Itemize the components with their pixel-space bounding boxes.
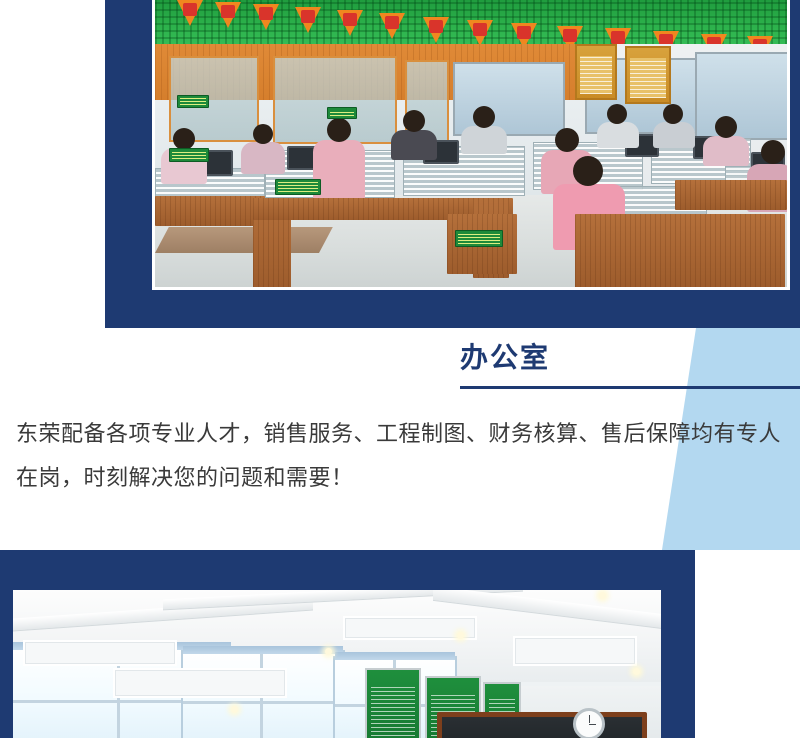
ceiling-banner [215, 2, 241, 28]
section-title-wrap: 办公室 [460, 340, 800, 375]
whiteboard [437, 712, 647, 738]
staff-head [473, 106, 495, 128]
wooden-desk [575, 214, 785, 287]
department-sign [455, 230, 503, 247]
promo-page: 办公室 东荣配备各项专业人才，销售服务、工程制图、财务核算、售后保障均有专人在岗… [0, 0, 800, 738]
ceiling-downlight [599, 592, 606, 599]
department-sign [169, 148, 209, 162]
notice-board [365, 668, 421, 738]
wooden-desk [155, 196, 265, 226]
staff-body [653, 122, 695, 148]
ceiling-banner [379, 13, 405, 39]
staff-body [703, 136, 749, 166]
staff-head [253, 124, 273, 144]
body-paragraph: 东荣配备各项专业人才，销售服务、工程制图、财务核算、售后保障均有专人在岗，时刻解… [16, 412, 800, 500]
department-sign [327, 107, 357, 119]
wall-clock [573, 708, 605, 738]
ceiling-banner [467, 20, 493, 46]
ceiling-recess [113, 668, 287, 698]
page-title: 办公室 [460, 340, 800, 375]
staff-body [461, 126, 507, 154]
ceiling-downlight [231, 706, 238, 713]
staff-head [173, 128, 195, 150]
wall-poster [625, 46, 671, 104]
title-underline-rule [460, 386, 800, 389]
staff-body [391, 130, 437, 160]
ceiling-recess [23, 640, 177, 666]
staff-head [555, 128, 579, 152]
staff-head [573, 156, 603, 186]
wall-poster-content [630, 58, 666, 98]
ceiling-downlight [457, 632, 464, 639]
window-pane [453, 62, 565, 136]
staff-head [663, 104, 683, 124]
staff-head [761, 140, 785, 164]
staff-head [607, 104, 627, 124]
staff-head [715, 116, 737, 138]
staff-head [327, 118, 351, 142]
department-sign [275, 179, 321, 195]
wall-poster-content [580, 56, 612, 94]
ceiling-banner [177, 0, 203, 26]
ceiling-banner [423, 17, 449, 43]
ceiling-banner [253, 4, 279, 30]
window-blind [335, 652, 455, 660]
floor-border-band [155, 227, 333, 253]
window-mullion-h [183, 701, 343, 704]
wooden-desk [675, 180, 787, 210]
staff-body [597, 122, 639, 148]
ceiling-downlight [633, 668, 640, 675]
wall-poster [575, 44, 617, 100]
window-blind [183, 646, 343, 654]
window-pane [695, 52, 787, 140]
staff-head [403, 110, 425, 132]
ceiling-recess [513, 636, 637, 666]
office-photo-top [155, 0, 787, 287]
ceiling-banner [295, 7, 321, 33]
office-photo-bottom [13, 590, 661, 738]
staff-body [241, 142, 285, 174]
department-sign [177, 95, 209, 108]
ceiling-downlight [325, 648, 332, 655]
ceiling-banner [337, 10, 363, 36]
